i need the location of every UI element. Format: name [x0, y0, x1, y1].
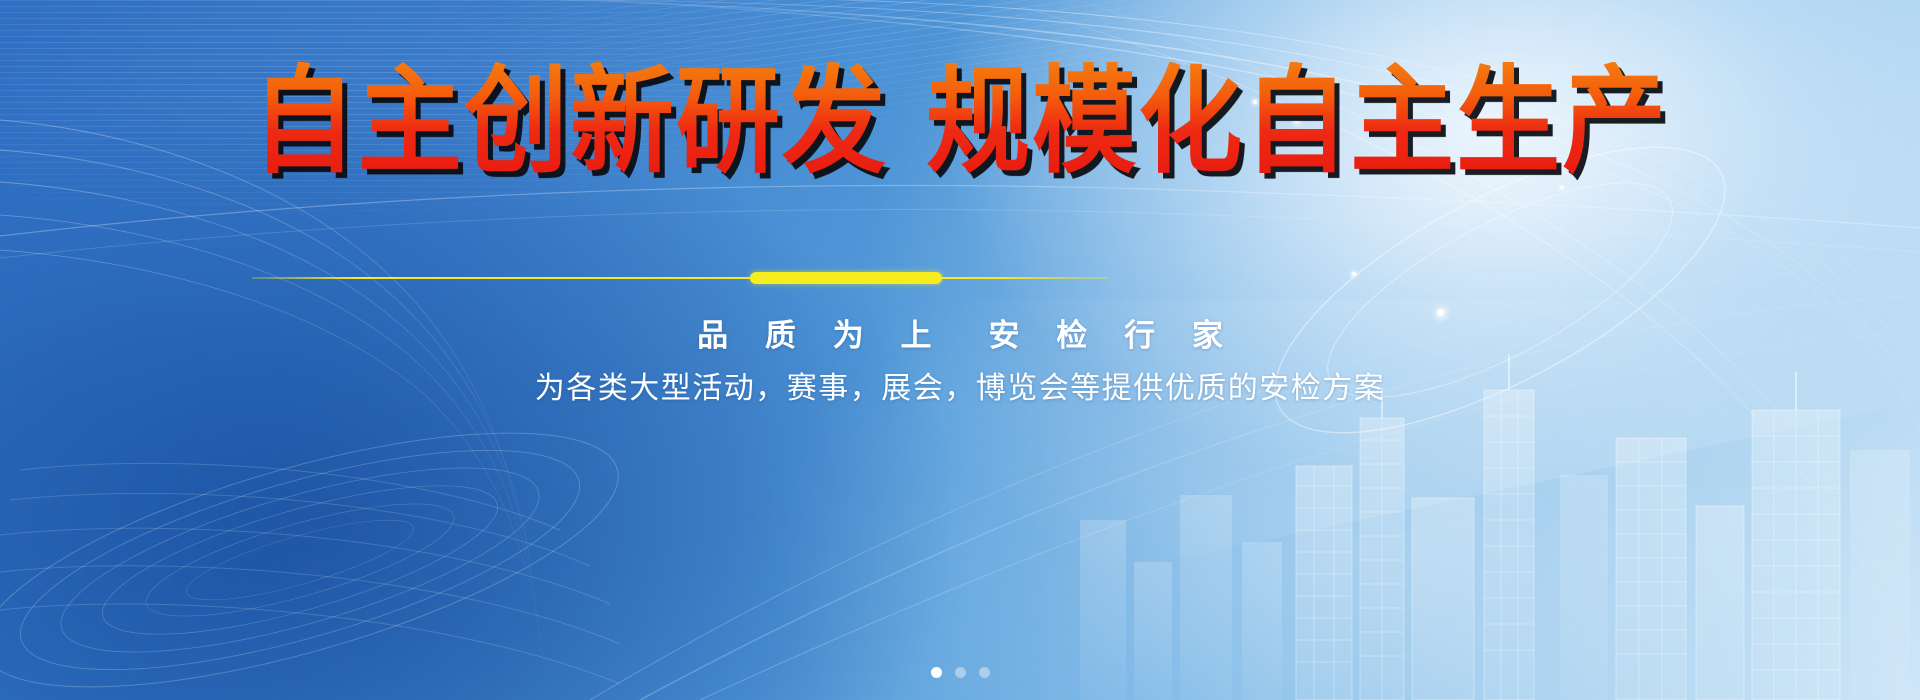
carousel-dots[interactable] — [0, 667, 1920, 678]
hero-banner: 自主创新研发 规模化自主生产 品 质 为 上 安 检 行 家 为各类大型活动，赛… — [0, 0, 1920, 700]
subtitle-secondary: 为各类大型活动，赛事，展会，博览会等提供优质的安检方案 — [0, 363, 1920, 407]
carousel-dot-2[interactable] — [955, 667, 966, 678]
headline-container: 自主创新研发 规模化自主生产 — [0, 62, 1920, 168]
background-glow-bottomright — [760, 300, 1920, 700]
yellow-divider — [0, 270, 1920, 286]
subtitle-main: 品 质 为 上 安 检 行 家 — [0, 310, 1920, 355]
divider-thin-line — [252, 277, 1108, 279]
page-title: 自主创新研发 规模化自主生产 — [252, 62, 1668, 181]
carousel-dot-3[interactable] — [979, 667, 990, 678]
carousel-dot-1[interactable] — [931, 667, 942, 678]
divider-highlight-segment — [750, 272, 942, 284]
